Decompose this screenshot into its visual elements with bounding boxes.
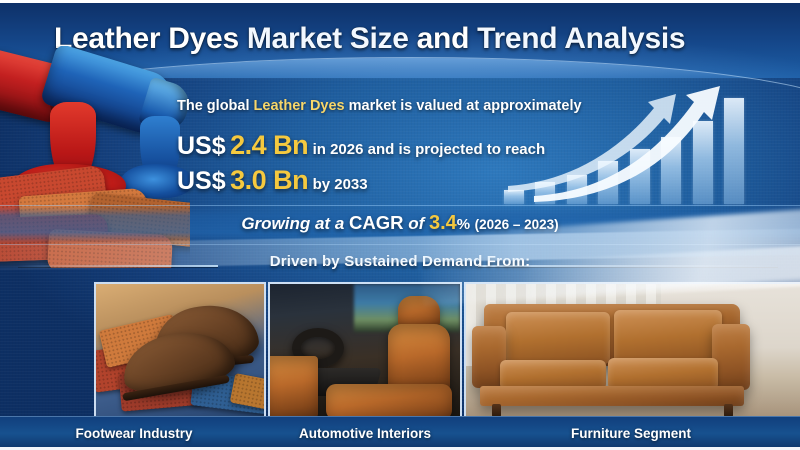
segment-caption-label: Footwear Industry <box>75 426 192 441</box>
sofa-back-cushion <box>614 310 722 364</box>
lede-prefix: The global <box>177 98 254 114</box>
title-segment-and: and <box>417 22 469 55</box>
car-door-panel <box>268 356 318 416</box>
currency-label: US$ <box>177 167 226 195</box>
segment-panel-furniture[interactable]: Furniture Segment <box>462 282 800 450</box>
cagr-value: 3.4 <box>429 212 457 234</box>
lede-text: The global Leather Dyes market is valued… <box>177 98 582 114</box>
cagr-prefix: Growing at a <box>241 214 349 233</box>
cagr-period: (2026 – 2023) <box>475 217 559 232</box>
segment-caption-furniture: Furniture Segment <box>462 416 800 450</box>
market-value-tail: in 2026 and is projected to reach <box>313 141 546 158</box>
title-segment-trend-analysis: Trend Analysis <box>469 22 685 55</box>
market-value-tail: by 2033 <box>313 176 368 193</box>
cagr-percent: % <box>457 216 470 233</box>
footwear-photo <box>94 282 266 416</box>
sofa-leg <box>724 404 733 416</box>
segment-caption-automotive: Automotive Interiors <box>268 416 462 450</box>
title-segment-market-size: Market Size <box>239 22 417 55</box>
currency-label: US$ <box>177 132 226 160</box>
market-value-amount: 2.4 Bn <box>230 130 308 160</box>
furniture-photo <box>464 282 800 416</box>
cagr-of: of <box>403 214 429 233</box>
market-value-amount: 3.0 Bn <box>230 165 308 195</box>
infographic-root: Leather Dyes Market Size and Trend Analy… <box>0 0 800 450</box>
cagr-statement: Growing at a CAGR of 3.4% (2026 – 2023) <box>0 212 800 235</box>
segment-caption-label: Automotive Interiors <box>299 426 431 441</box>
segment-panels: Footwear Industry Automotive Interiors <box>0 282 800 450</box>
segment-panel-automotive[interactable]: Automotive Interiors <box>268 282 462 450</box>
sofa-leg <box>492 404 501 416</box>
automotive-photo <box>268 282 462 416</box>
segment-panel-footwear[interactable]: Footwear Industry <box>0 282 268 450</box>
sofa-back-cushion <box>506 312 610 364</box>
top-edge-rule <box>0 0 800 3</box>
cagr-keyword: CAGR <box>349 212 403 233</box>
segment-caption-footwear: Footwear Industry <box>0 416 268 450</box>
lede-highlight: Leather Dyes <box>254 98 345 114</box>
car-seat-cushion <box>326 384 452 416</box>
driven-by-label: Driven by Sustained Demand From: <box>0 253 800 270</box>
lede-suffix: market is valued at approximately <box>345 98 582 114</box>
driven-by-divider: Driven by Sustained Demand From: <box>0 253 800 279</box>
sofa-base <box>480 386 744 406</box>
segment-caption-label: Furniture Segment <box>571 426 691 441</box>
market-value-2026: US$ 2.4 Bn in 2026 and is projected to r… <box>177 130 545 161</box>
market-value-2033: US$ 3.0 Bn by 2033 <box>177 165 368 196</box>
